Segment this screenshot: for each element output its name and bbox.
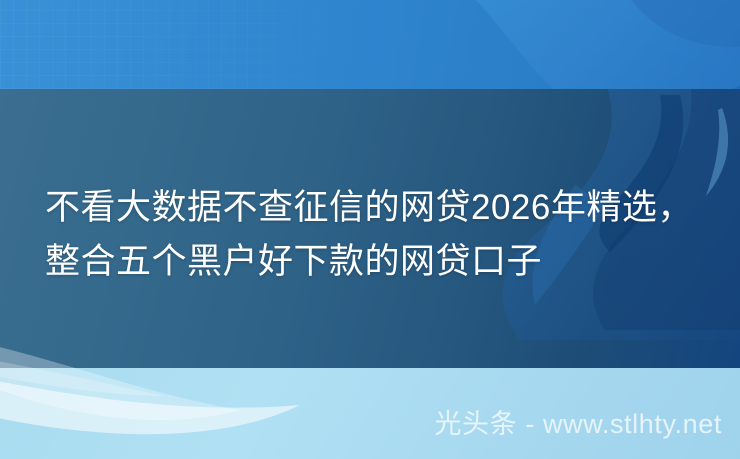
banner-headline: 不看大数据不查征信的网贷2026年精选，整合五个黑户好下款的网贷口子 <box>45 181 705 289</box>
site-watermark: 光头条 - www.stlhty.net <box>434 404 722 444</box>
grid-texture-overlay <box>0 0 420 89</box>
banner-top-band <box>0 0 740 89</box>
promo-banner: 不看大数据不查征信的网贷2026年精选，整合五个黑户好下款的网贷口子 光头条 -… <box>0 0 740 459</box>
